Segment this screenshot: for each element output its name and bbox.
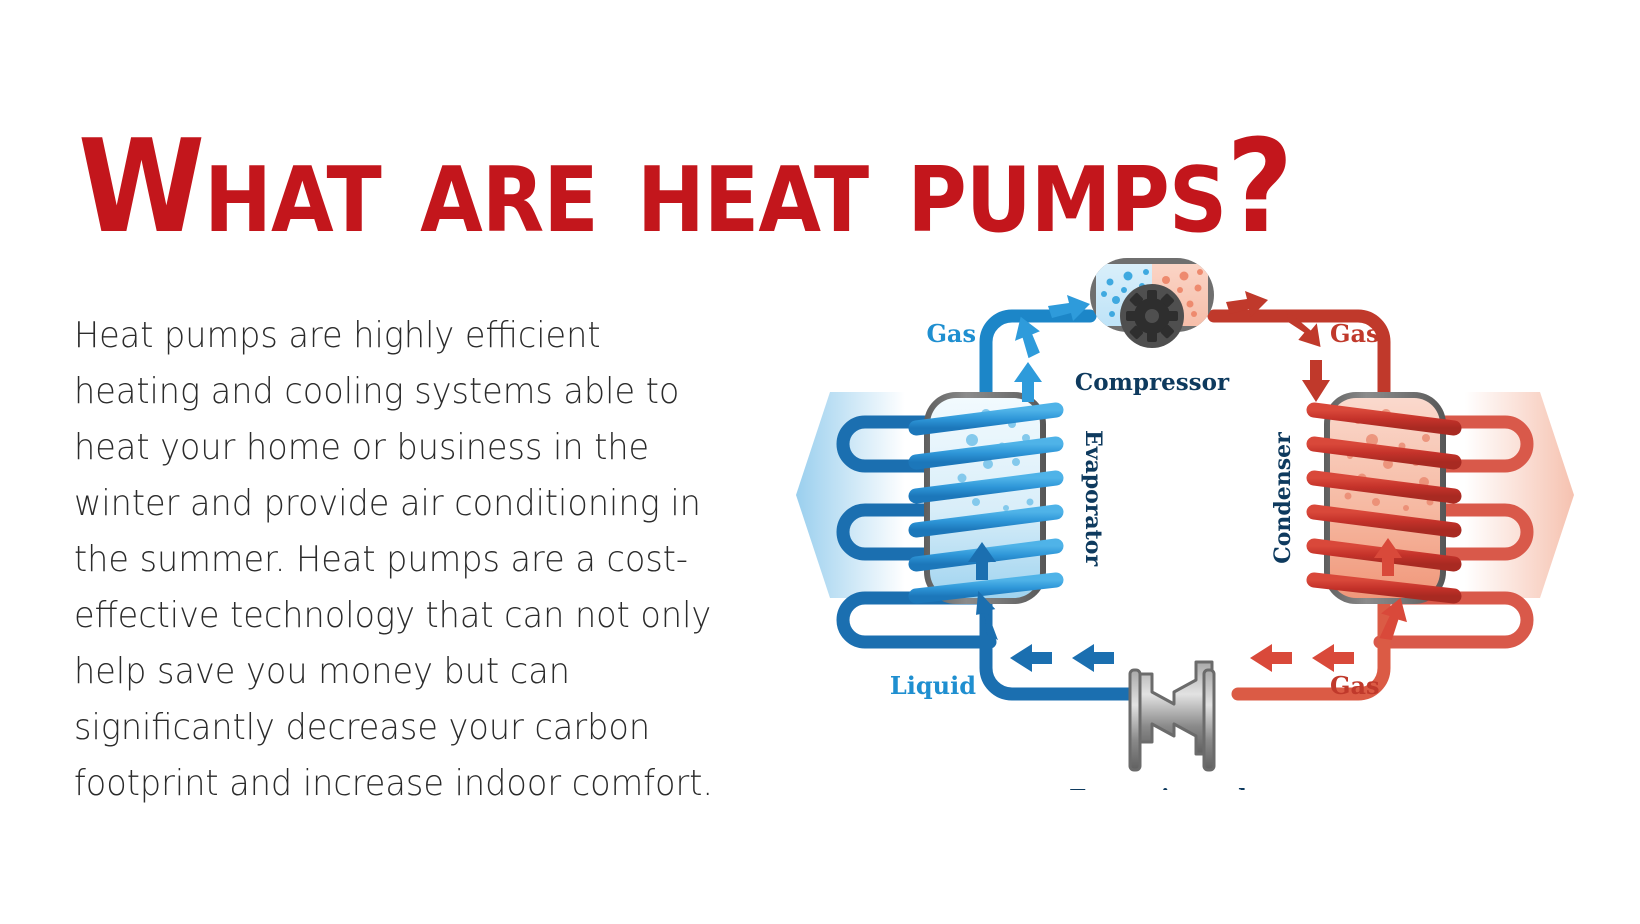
heat-pump-diagram: Gas Gas Liquid Gas Compressor Evaporator… [790, 250, 1580, 790]
slide-root: What are heat pumps? Heat pumps are high… [0, 0, 1640, 924]
label-compressor: Compressor [1075, 369, 1230, 396]
refrigerant-pipe-cold-liquid [986, 598, 1132, 694]
expansion-valve-body [1130, 662, 1214, 770]
compressor-gear-icon [1120, 284, 1184, 348]
label-gas-top-left: Gas [926, 319, 976, 348]
label-gas-bottom-right: Gas [1330, 671, 1380, 700]
label-expansion-valve: Expansion valve [1069, 785, 1275, 790]
flow-arrows-hot-down [1226, 291, 1330, 402]
compressor-unit [1090, 258, 1214, 348]
body-paragraph: Heat pumps are highly efficient heating … [74, 308, 716, 812]
label-condenser: Condenser [1270, 432, 1296, 564]
label-liquid-bottom-left: Liquid [890, 671, 976, 700]
page-title: What are heat pumps? [78, 124, 1410, 252]
label-gas-top-right: Gas [1330, 319, 1380, 348]
label-evaporator: Evaporator [1080, 430, 1106, 567]
